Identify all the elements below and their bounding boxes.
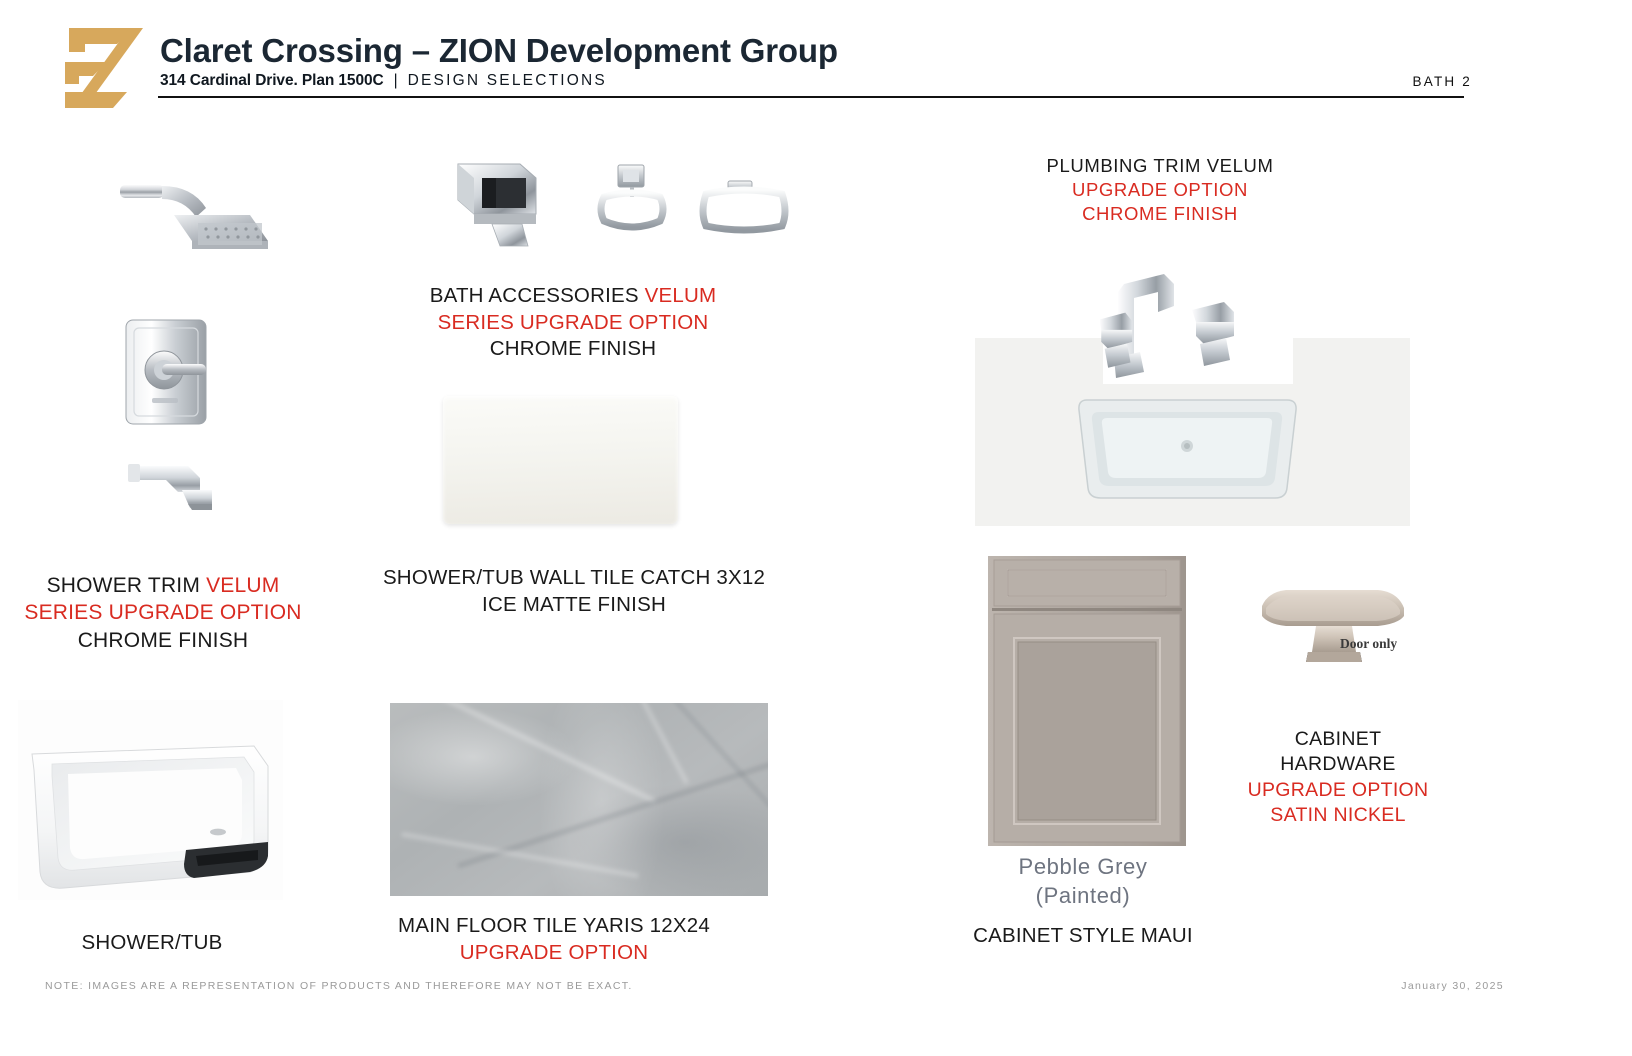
footer-date: January 30, 2025 xyxy=(1401,980,1504,992)
bath-acc-line1-black: BATH ACCESSORIES xyxy=(430,284,645,307)
caption-cabinet-color: Pebble Grey (Painted) xyxy=(958,853,1208,910)
caption-cabinet-style: CABINET STYLE MAUI xyxy=(958,923,1208,950)
shower-trim-line3: CHROME FINISH xyxy=(8,627,318,654)
footer-note: NOTE: IMAGES ARE A REPRESENTATION OF PRO… xyxy=(45,980,633,992)
room-label: BATH 2 xyxy=(1413,74,1472,89)
cab-color-line2: (Painted) xyxy=(958,882,1208,911)
cab-hw-line1: CABINET xyxy=(1238,727,1438,752)
caption-cabinet-hardware: CABINET HARDWARE UPGRADE OPTION SATIN NI… xyxy=(1238,727,1438,828)
shower-valve-trim-image xyxy=(108,312,228,432)
towel-ring-image xyxy=(698,180,790,238)
robe-hook-image xyxy=(452,158,557,253)
shower-head-image xyxy=(118,175,288,285)
plumb-trim-line1: PLUMBING TRIM VELUM xyxy=(1000,154,1320,178)
cab-hw-line2: HARDWARE xyxy=(1238,752,1438,777)
floor-tile-line1: MAIN FLOOR TILE YARIS 12X24 xyxy=(394,913,714,940)
shower-trim-line1-red: VELUM xyxy=(206,574,279,597)
bath-acc-line3: CHROME FINISH xyxy=(408,336,738,363)
bath-acc-line2: SERIES UPGRADE OPTION xyxy=(408,310,738,337)
wall-tile-line1: SHOWER/TUB WALL TILE CATCH 3X12 xyxy=(368,565,780,592)
floor-tile-line2: UPGRADE OPTION xyxy=(394,940,714,967)
knob-door-only-note: Door only xyxy=(1340,636,1397,652)
bathtub-image xyxy=(18,700,283,900)
caption-wall-tile: SHOWER/TUB WALL TILE CATCH 3X12 ICE MATT… xyxy=(368,565,780,618)
cab-color-line1: Pebble Grey xyxy=(958,853,1208,882)
bath-acc-line1-red: VELUM xyxy=(645,284,717,307)
page-header: Claret Crossing – ZION Development Group… xyxy=(0,0,1632,120)
page-title: Claret Crossing – ZION Development Group xyxy=(160,32,838,70)
caption-plumbing-trim: PLUMBING TRIM VELUM UPGRADE OPTION CHROM… xyxy=(1000,154,1320,226)
subline-separator: | xyxy=(394,72,398,90)
cabinet-knob-image xyxy=(1252,578,1422,670)
cab-style-line1: CABINET STYLE MAUI xyxy=(958,923,1208,950)
plumb-trim-line2: UPGRADE OPTION xyxy=(1000,178,1320,202)
zion-z-logo xyxy=(55,22,147,114)
toilet-paper-holder-image xyxy=(592,163,672,235)
shower-trim-line1-black: SHOWER TRIM xyxy=(47,574,207,597)
caption-floor-tile: MAIN FLOOR TILE YARIS 12X24 UPGRADE OPTI… xyxy=(394,913,714,966)
cab-hw-line4: SATIN NICKEL xyxy=(1238,803,1438,828)
shower-trim-line2: SERIES UPGRADE OPTION xyxy=(8,599,318,626)
section-label: DESIGN SELECTIONS xyxy=(408,72,607,90)
shower-tub-line1: SHOWER/TUB xyxy=(28,930,276,957)
header-subline: 314 Cardinal Drive. Plan 1500C | DESIGN … xyxy=(160,72,607,90)
project-address: 314 Cardinal Drive. Plan 1500C xyxy=(160,72,384,90)
cabinet-door-image xyxy=(988,556,1186,846)
header-rule-right xyxy=(674,96,1464,98)
tub-spout-image xyxy=(126,460,236,522)
wall-tile-swatch xyxy=(443,396,678,524)
caption-shower-tub: SHOWER/TUB xyxy=(28,930,276,957)
floor-tile-swatch xyxy=(390,703,768,896)
caption-shower-trim: SHOWER TRIM VELUM SERIES UPGRADE OPTION … xyxy=(8,572,318,654)
header-rule-left xyxy=(158,96,674,98)
cab-hw-line3: UPGRADE OPTION xyxy=(1238,778,1438,803)
plumb-trim-line3: CHROME FINISH xyxy=(1000,202,1320,226)
lavatory-faucet-image xyxy=(1100,262,1260,390)
caption-bath-accessories: BATH ACCESSORIES VELUM SERIES UPGRADE OP… xyxy=(408,283,738,363)
wall-tile-line2: ICE MATTE FINISH xyxy=(368,592,780,619)
